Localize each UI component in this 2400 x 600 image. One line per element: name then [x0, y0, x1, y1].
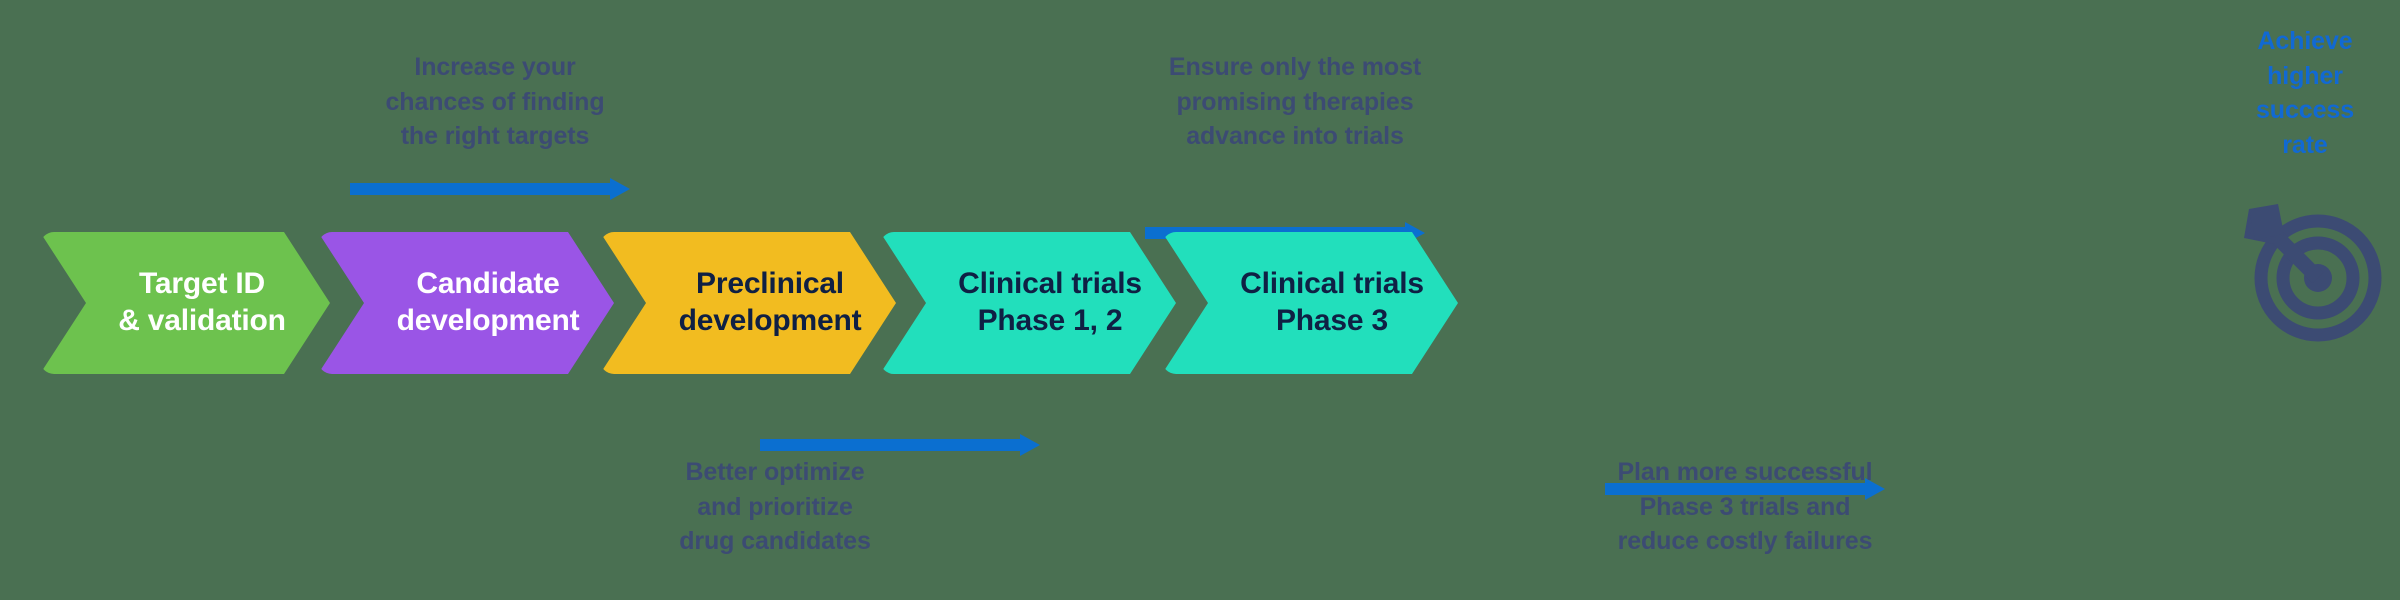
annotation-ann-preclinical-dev: Ensure only the most promising therapies… [1140, 50, 1450, 154]
annotation-arrow-ann-clinical-ph12 [1605, 478, 1885, 500]
pipeline-stage-target-id[interactable]: Target ID & validation [40, 232, 330, 374]
annotation-text: Ensure only the most promising therapies… [1140, 50, 1450, 154]
pipeline-stage-clinical-ph12[interactable]: Clinical trials Phase 1, 2 [880, 232, 1176, 374]
annotation-layer: Increase your chances of finding the rig… [0, 0, 2400, 88]
pipeline-stage-label: Target ID & validation [84, 266, 286, 339]
goal-label-wrap: Achieve higher success rate [2210, 24, 2400, 162]
pipeline-stage-label: Clinical trials Phase 1, 2 [914, 266, 1142, 339]
annotation-ann-target-id: Increase your chances of finding the rig… [345, 50, 645, 154]
pipeline-stage-candidate-dev[interactable]: Candidate development [318, 232, 614, 374]
annotation-arrow-ann-target-id [350, 178, 630, 200]
pipeline-stage-label: Candidate development [353, 266, 580, 339]
annotation-ann-clinical-ph12: Plan more successful Phase 3 trials and … [1580, 455, 1910, 559]
annotation-text: Plan more successful Phase 3 trials and … [1580, 455, 1910, 559]
arrow-shaft [1605, 483, 1865, 495]
annotation-text: Increase your chances of finding the rig… [345, 50, 645, 154]
annotation-text: Better optimize and prioritize drug cand… [610, 455, 940, 559]
diagram-canvas: Target ID & validationCandidate developm… [0, 0, 2400, 600]
annotation-arrow-ann-candidate-dev [760, 434, 1040, 456]
annotation-ann-candidate-dev: Better optimize and prioritize drug cand… [610, 455, 940, 559]
pipeline-stage-label: Preclinical development [635, 266, 862, 339]
pipeline-stage-clinical-ph3[interactable]: Clinical trials Phase 3 [1162, 232, 1458, 374]
arrow-shaft [350, 183, 610, 195]
pipeline-stages: Target ID & validationCandidate developm… [0, 232, 2400, 374]
arrow-head-icon [1020, 434, 1040, 456]
pipeline-stage-preclinical-dev[interactable]: Preclinical development [600, 232, 896, 374]
arrow-head-icon [610, 178, 630, 200]
arrow-shaft [760, 439, 1020, 451]
target-dart-icon [2236, 196, 2386, 346]
pipeline-stage-label: Clinical trials Phase 3 [1196, 266, 1424, 339]
goal-label: Achieve higher success rate [2210, 24, 2400, 162]
arrow-head-icon [1865, 478, 1885, 500]
